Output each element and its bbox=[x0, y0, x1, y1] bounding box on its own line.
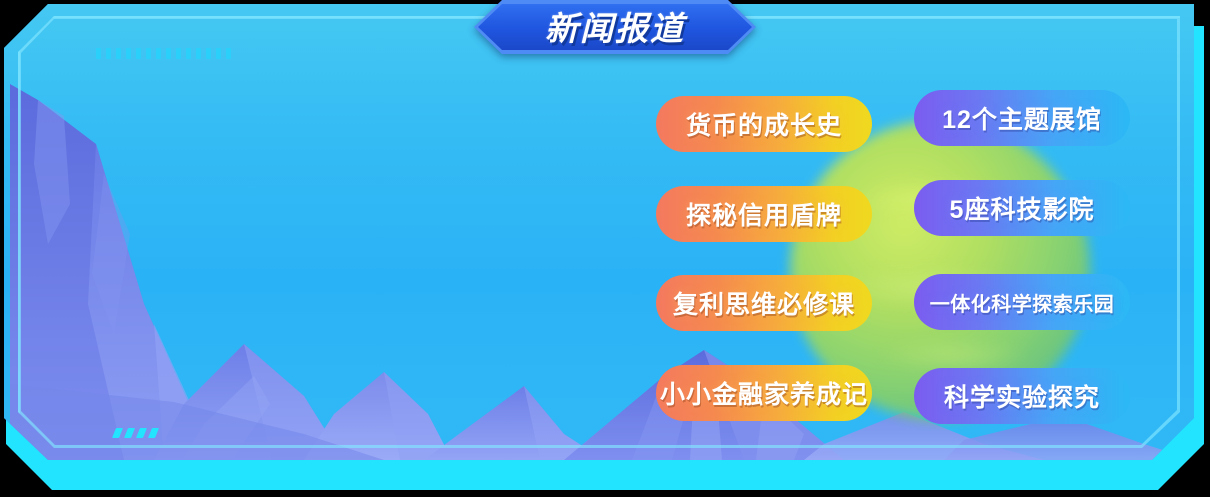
title-banner: 新闻报道 bbox=[474, 0, 756, 54]
pill-left-1[interactable]: 货币的成长史 bbox=[656, 96, 872, 152]
pill-right-3-label: 一体化科学探索乐园 bbox=[930, 288, 1115, 317]
topic-pill-grid: 货币的成长史 探秘信用盾牌 复利思维必修课 小小金融家养成记 12个主题展馆 5… bbox=[0, 0, 1210, 497]
pill-right-1[interactable]: 12个主题展馆 bbox=[914, 90, 1130, 146]
screenshot-root: 货币的成长史 探秘信用盾牌 复利思维必修课 小小金融家养成记 12个主题展馆 5… bbox=[0, 0, 1210, 497]
pill-right-3[interactable]: 一体化科学探索乐园 bbox=[914, 274, 1130, 330]
pill-right-4[interactable]: 科学实验探究 bbox=[914, 368, 1130, 424]
pill-left-4[interactable]: 小小金融家养成记 bbox=[656, 365, 872, 421]
pill-right-4-label: 科学实验探究 bbox=[944, 378, 1100, 414]
pill-right-2[interactable]: 5座科技影院 bbox=[914, 180, 1130, 236]
pill-left-2[interactable]: 探秘信用盾牌 bbox=[656, 186, 872, 242]
pill-right-1-label: 12个主题展馆 bbox=[942, 100, 1102, 136]
pill-left-3[interactable]: 复利思维必修课 bbox=[656, 275, 872, 331]
pill-left-3-label: 复利思维必修课 bbox=[673, 285, 855, 321]
pill-left-1-label: 货币的成长史 bbox=[686, 106, 842, 142]
banner-title: 新闻报道 bbox=[474, 0, 756, 54]
pill-left-2-label: 探秘信用盾牌 bbox=[686, 196, 842, 232]
pill-left-4-label: 小小金融家养成记 bbox=[660, 375, 868, 411]
pill-right-2-label: 5座科技影院 bbox=[950, 190, 1095, 226]
